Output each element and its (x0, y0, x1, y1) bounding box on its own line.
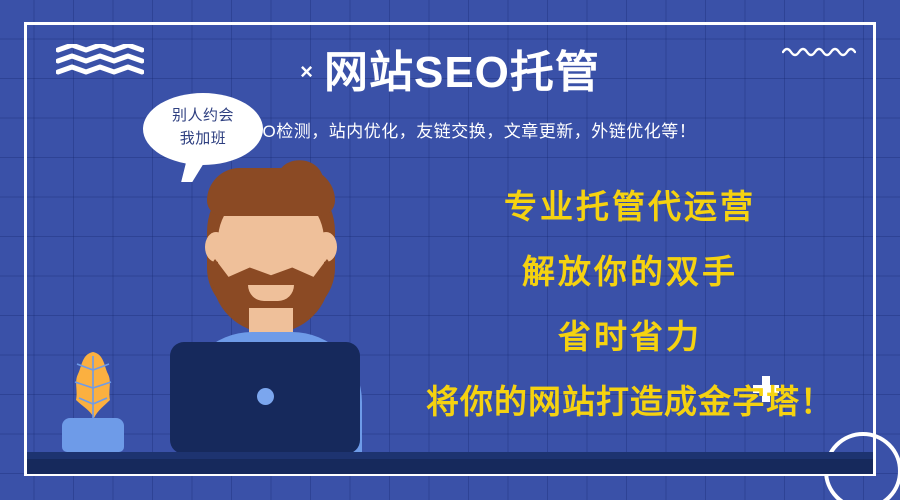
plant-pot (62, 418, 124, 452)
speech-bubble: 别人约会 我加班 (143, 93, 263, 165)
hair-fringe (207, 168, 335, 216)
slogan-line-4: 将你的网站打造成金字塔！ (380, 385, 880, 418)
slogan-line-1: 专业托管代运营 (380, 190, 880, 223)
speech-bubble-line-2: 我加班 (143, 127, 263, 150)
speech-bubble-line-1: 别人约会 (143, 104, 263, 127)
poster-canvas: ×网站SEO托管 含：SEO检测，站内优化，友链交换，文章更新，外链优化等！ 专… (0, 0, 900, 500)
desk-edge (27, 452, 873, 459)
slogan-line-2: 解放你的双手 (380, 255, 880, 288)
laptop-logo-dot (257, 388, 274, 405)
slogan-line-3: 省时省力 (380, 320, 880, 353)
potted-plant-icon (64, 350, 122, 424)
slogan-list: 专业托管代运营 解放你的双手 省时省力 将你的网站打造成金字塔！ (380, 190, 880, 418)
speech-bubble-text: 别人约会 我加班 (143, 104, 263, 151)
